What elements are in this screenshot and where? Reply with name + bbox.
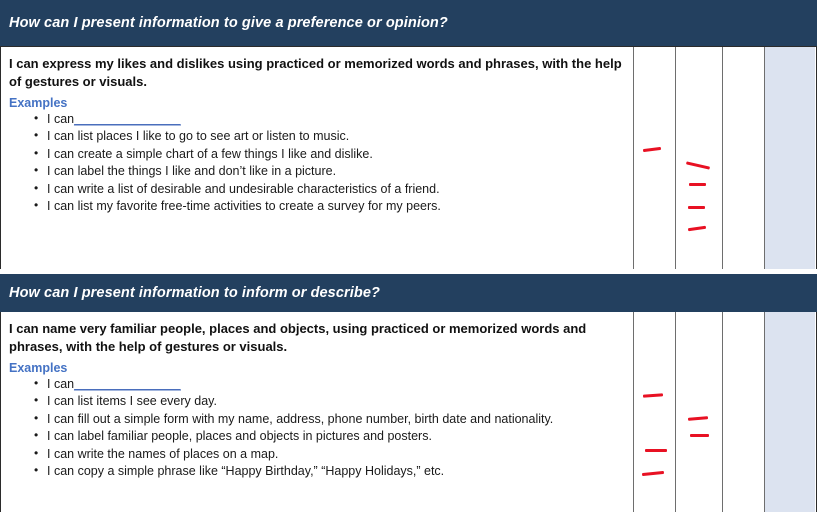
- tally-mark: [689, 183, 706, 186]
- tally-column-2[interactable]: [676, 312, 723, 512]
- tally-column-2[interactable]: [676, 47, 723, 269]
- tally-column-1[interactable]: [634, 312, 676, 512]
- fill-in-blank[interactable]: ________________: [74, 377, 180, 391]
- list-item: I can fill out a simple form with my nam…: [47, 411, 623, 429]
- tally-mark: [690, 434, 709, 437]
- section-header-text: How can I present information to inform …: [9, 285, 380, 301]
- tally-mark: [643, 393, 663, 397]
- tally-column-1[interactable]: [634, 47, 676, 269]
- list-item: I can write a list of desirable and unde…: [47, 181, 623, 199]
- tally-mark: [642, 471, 664, 476]
- tally-mark: [645, 449, 667, 452]
- can-do-statement: I can name very familiar people, places …: [9, 320, 623, 357]
- fill-in-blank[interactable]: ________________: [74, 112, 180, 126]
- list-item: I can write the names of places on a map…: [47, 446, 623, 464]
- list-item: I can list items I see every day.: [47, 393, 623, 411]
- tally-column-4-highlight[interactable]: [765, 47, 815, 269]
- examples-label: Examples: [9, 96, 623, 110]
- section-body-preference-opinion: I can express my likes and dislikes usin…: [0, 47, 817, 269]
- list-item: I can________________: [47, 111, 623, 129]
- list-item: I can________________: [47, 376, 623, 394]
- examples-list: I can________________ I can list items I…: [9, 376, 623, 481]
- list-item: I can label familiar people, places and …: [47, 428, 623, 446]
- tally-mark: [688, 416, 708, 421]
- list-item: I can copy a simple phrase like “Happy B…: [47, 463, 623, 481]
- text-cell-preference-opinion: I can express my likes and dislikes usin…: [1, 47, 634, 269]
- section-header-text: How can I present information to give a …: [9, 15, 448, 31]
- list-item: I can list places I like to go to see ar…: [47, 128, 623, 146]
- section-header-preference-opinion: How can I present information to give a …: [0, 0, 817, 46]
- example-text: I can: [47, 377, 74, 391]
- tally-column-3[interactable]: [723, 312, 765, 512]
- tally-column-4-highlight[interactable]: [765, 312, 815, 512]
- can-do-statements-page: How can I present information to give a …: [0, 0, 817, 512]
- tally-mark: [686, 161, 710, 169]
- examples-list: I can________________ I can list places …: [9, 111, 623, 216]
- tally-column-3[interactable]: [723, 47, 765, 269]
- tally-mark: [688, 226, 706, 231]
- list-item: I can list my favorite free-time activit…: [47, 198, 623, 216]
- tally-mark: [688, 206, 705, 209]
- tally-mark: [643, 147, 661, 152]
- examples-label: Examples: [9, 361, 623, 375]
- section-header-inform-describe: How can I present information to inform …: [0, 274, 817, 312]
- section-body-inform-describe: I can name very familiar people, places …: [0, 312, 817, 512]
- list-item: I can create a simple chart of a few thi…: [47, 146, 623, 164]
- can-do-statement: I can express my likes and dislikes usin…: [9, 55, 623, 92]
- example-text: I can: [47, 112, 74, 126]
- text-cell-inform-describe: I can name very familiar people, places …: [1, 312, 634, 512]
- list-item: I can label the things I like and don’t …: [47, 163, 623, 181]
